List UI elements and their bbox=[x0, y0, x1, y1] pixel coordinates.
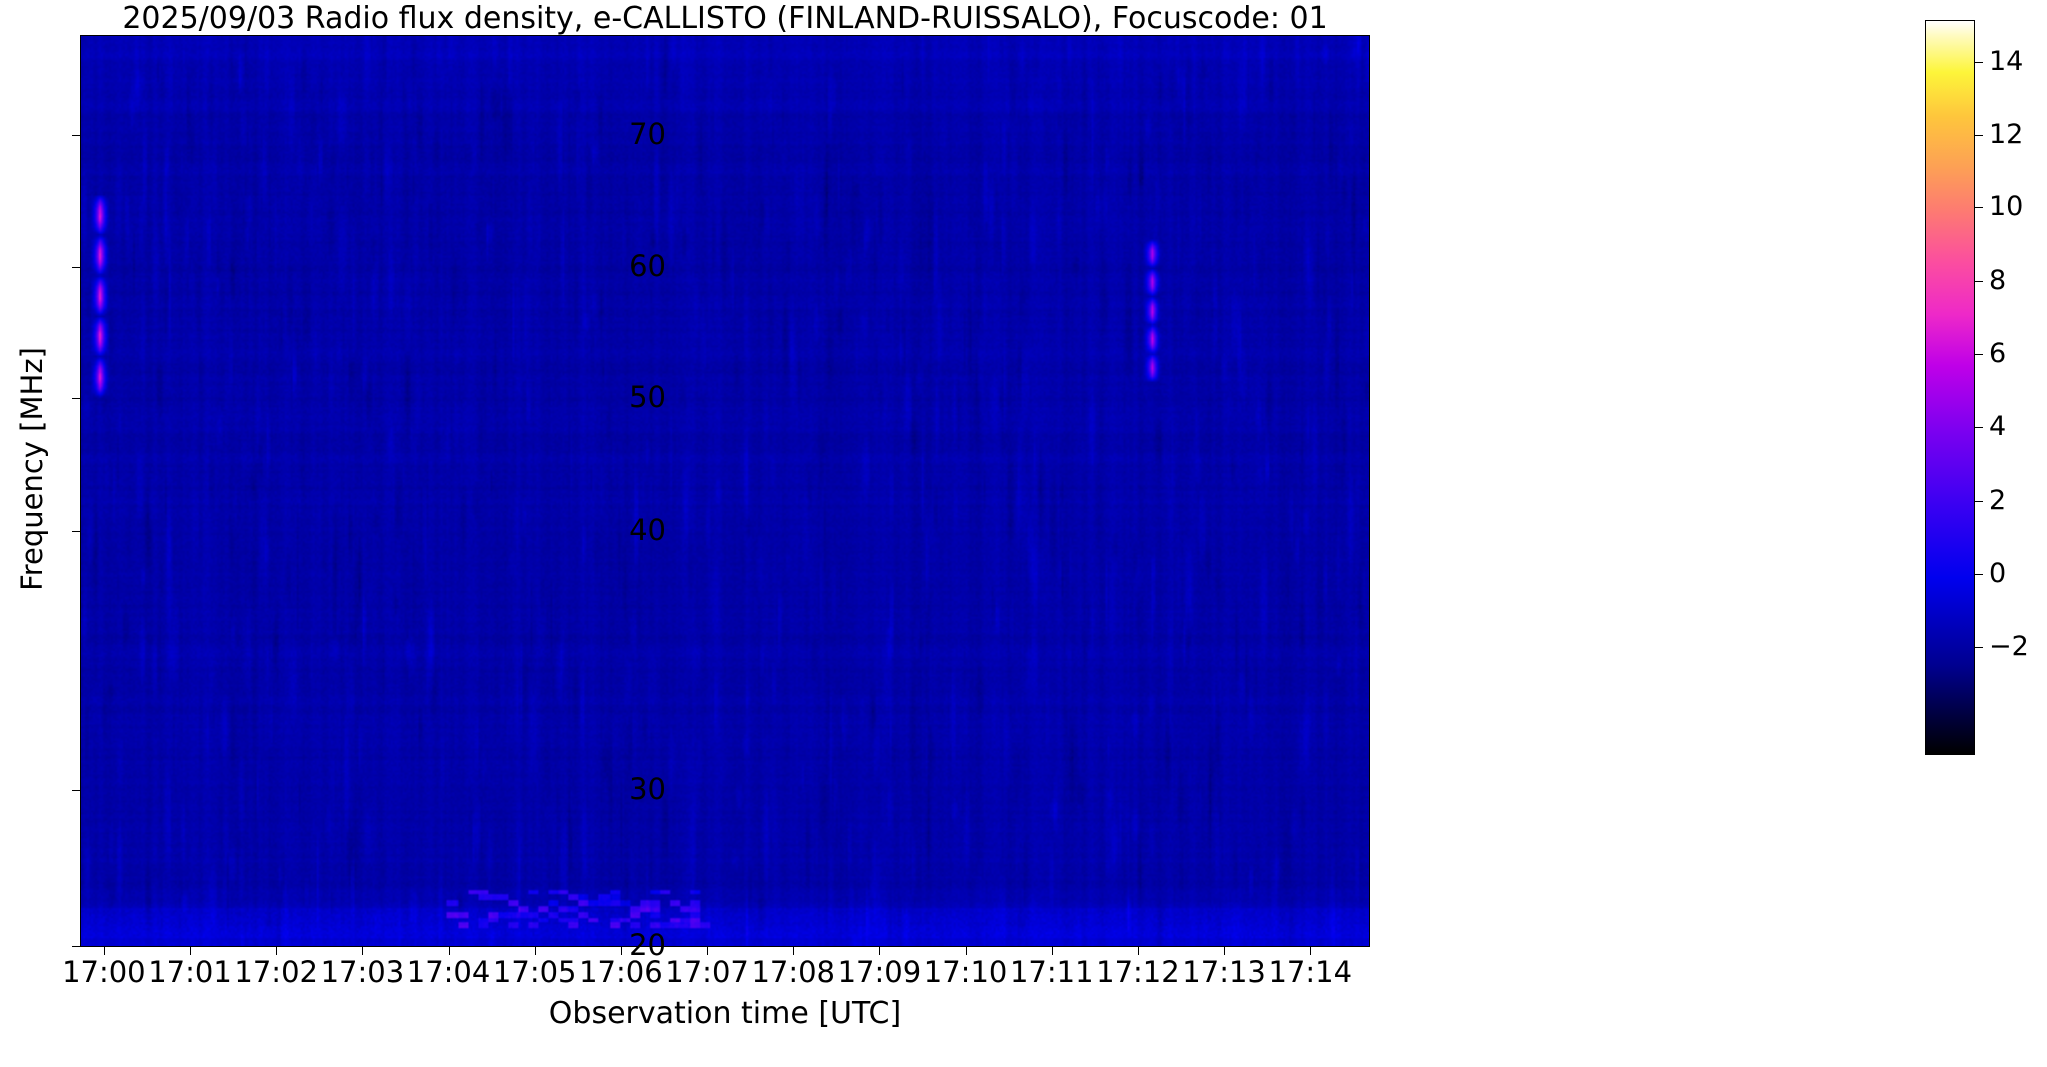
colorbar-tick-label: −2 bbox=[1989, 633, 2047, 660]
colorbar-gradient bbox=[1925, 20, 1975, 755]
x-tick-mark bbox=[1052, 947, 1053, 955]
y-tick-label: 30 bbox=[546, 775, 666, 804]
y-tick-mark bbox=[72, 398, 80, 399]
colorbar-tick-mark bbox=[1975, 207, 1983, 208]
colorbar-tick-mark bbox=[1975, 647, 1983, 648]
colorbar-tick-label: 8 bbox=[1989, 267, 2047, 294]
colorbar-tick-label: 0 bbox=[1989, 560, 2047, 587]
spectrogram-plot-area[interactable] bbox=[80, 35, 1370, 947]
colorbar-tick-mark bbox=[1975, 62, 1983, 63]
y-tick-label: 60 bbox=[546, 252, 666, 281]
x-tick-mark bbox=[621, 947, 622, 955]
x-tick-mark bbox=[535, 947, 536, 955]
spectrogram-figure: 2025/09/03 Radio flux density, e-CALLIST… bbox=[0, 0, 2047, 1067]
y-tick-label: 50 bbox=[546, 383, 666, 412]
x-tick-mark bbox=[362, 947, 363, 955]
x-tick-mark bbox=[276, 947, 277, 955]
colorbar-tick-mark bbox=[1975, 281, 1983, 282]
colorbar-tick-label: 6 bbox=[1989, 340, 2047, 367]
colorbar-tick-mark bbox=[1975, 135, 1983, 136]
colorbar-tick-label: 10 bbox=[1989, 193, 2047, 220]
x-tick-mark bbox=[707, 947, 708, 955]
y-tick-label: 40 bbox=[546, 516, 666, 545]
y-tick-mark bbox=[72, 946, 80, 947]
y-tick-mark bbox=[72, 135, 80, 136]
y-tick-mark bbox=[72, 531, 80, 532]
spectrogram-image bbox=[81, 36, 1369, 946]
colorbar-tick-mark bbox=[1975, 574, 1983, 575]
x-tick-mark bbox=[1224, 947, 1225, 955]
x-tick-mark bbox=[190, 947, 191, 955]
y-axis-label: Frequency [MHz] bbox=[15, 219, 49, 719]
colorbar-tick-label: 2 bbox=[1989, 487, 2047, 514]
x-tick-label: 17:14 bbox=[1230, 956, 1390, 989]
x-axis-label: Observation time [UTC] bbox=[80, 996, 1370, 1031]
x-tick-mark bbox=[966, 947, 967, 955]
colorbar-tick-mark bbox=[1975, 354, 1983, 355]
x-tick-mark bbox=[1138, 947, 1139, 955]
colorbar[interactable]: 14121086420−2 bbox=[1925, 20, 1975, 755]
colorbar-tick-mark bbox=[1975, 427, 1983, 428]
colorbar-tick-mark bbox=[1975, 501, 1983, 502]
x-tick-mark bbox=[104, 947, 105, 955]
y-tick-mark bbox=[72, 790, 80, 791]
colorbar-tick-label: 4 bbox=[1989, 413, 2047, 440]
x-tick-mark bbox=[879, 947, 880, 955]
x-tick-mark bbox=[793, 947, 794, 955]
y-tick-label: 70 bbox=[546, 120, 666, 149]
x-tick-mark bbox=[1310, 947, 1311, 955]
colorbar-tick-label: 12 bbox=[1989, 121, 2047, 148]
x-tick-mark bbox=[449, 947, 450, 955]
colorbar-tick-label: 14 bbox=[1989, 48, 2047, 75]
y-tick-mark bbox=[72, 267, 80, 268]
chart-title: 2025/09/03 Radio flux density, e-CALLIST… bbox=[80, 2, 1370, 36]
